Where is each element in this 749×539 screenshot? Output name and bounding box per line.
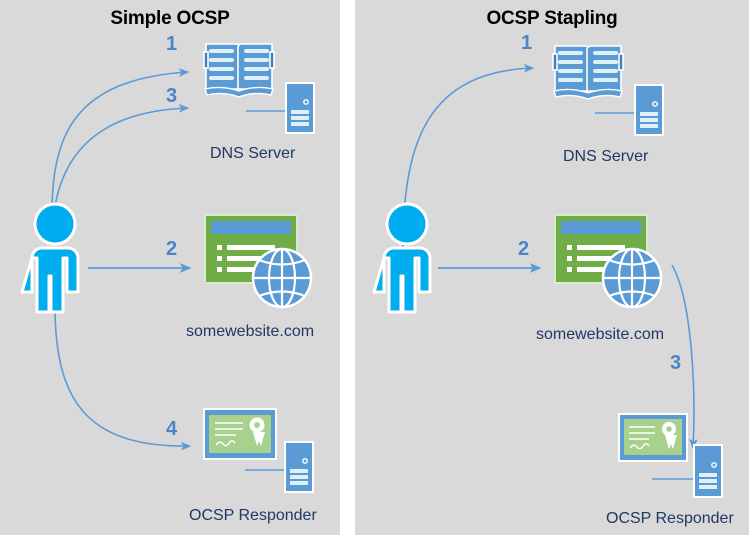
- panel-title-right: OCSP Stapling: [355, 8, 749, 30]
- person-icon-left: [18, 202, 92, 314]
- step-number-left-4: 4: [166, 418, 177, 441]
- step-number-right-3: 3: [670, 352, 681, 375]
- certificate-icon-left: [203, 408, 321, 494]
- website-icon-left: [203, 213, 318, 313]
- person-icon-right: [370, 202, 444, 314]
- step-number-left-1: 1: [166, 33, 177, 56]
- caption-website-right: somewebsite.com: [536, 326, 664, 344]
- caption-ocsp-right: OCSP Responder: [606, 510, 734, 528]
- dns-book-icon-right: [553, 40, 671, 136]
- step-number-right-1: 1: [521, 32, 532, 55]
- panel-title-left: Simple OCSP: [0, 8, 340, 30]
- caption-website-left: somewebsite.com: [186, 323, 314, 341]
- caption-dns-right: DNS Server: [563, 148, 648, 166]
- caption-dns-left: DNS Server: [210, 145, 295, 163]
- diagram-canvas: Simple OCSP OCSP Stapling: [0, 0, 749, 539]
- certificate-icon-right: [618, 413, 736, 499]
- website-icon-right: [553, 213, 668, 313]
- step-number-left-3: 3: [166, 85, 177, 108]
- step-number-right-2: 2: [518, 238, 529, 261]
- step-number-left-2: 2: [166, 238, 177, 261]
- dns-book-icon-left: [204, 38, 322, 134]
- caption-ocsp-left: OCSP Responder: [189, 507, 317, 525]
